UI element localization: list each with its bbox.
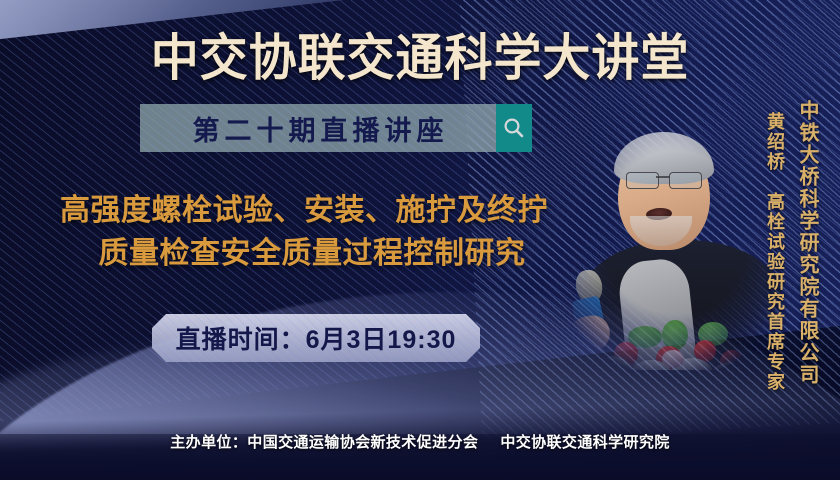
footer-organizers: 主办单位：中国交通运输协会新技术促进分会中交协联交通科学研究院: [0, 431, 840, 452]
broadcast-time-badge: 直播时间：6月3日19:30: [152, 314, 480, 362]
live-lecture-poster: 中交协联交通科学大讲堂 第二十期直播讲座 高强度螺栓试验、安装、施拧及终拧 质量…: [0, 0, 840, 480]
search-icon: [502, 116, 526, 140]
footer-prefix: 主办单位：: [170, 434, 247, 451]
episode-banner-fill: 第二十期直播讲座: [140, 104, 496, 152]
speaker-brow: [656, 176, 670, 178]
lecture-topic-line1: 高强度螺栓试验、安装、施拧及终拧: [0, 190, 608, 233]
broadcast-time-label: 直播时间：6月3日19:30: [176, 320, 457, 356]
lecture-topic: 高强度螺栓试验、安装、施拧及终拧 质量检查安全质量过程控制研究: [0, 190, 608, 275]
episode-label: 第二十期直播讲座: [188, 109, 449, 148]
search-icon-box[interactable]: [496, 104, 532, 152]
lecture-topic-line2: 质量检查安全质量过程控制研究: [0, 233, 608, 276]
speaker-organization: 中铁大桥科学研究院有限公司: [793, 100, 822, 386]
footer-org-1: 中国交通运输协会新技术促进分会: [247, 434, 478, 451]
page-title: 中交协联交通科学大讲堂: [17, 18, 823, 90]
footer-org-2: 中交协联交通科学研究院: [500, 434, 669, 451]
speaker-name-title: 黄绍桥 高栓试验研究首席专家: [762, 112, 788, 392]
speaker-glasses-icon: [624, 172, 704, 188]
episode-banner: 第二十期直播讲座: [140, 104, 532, 152]
